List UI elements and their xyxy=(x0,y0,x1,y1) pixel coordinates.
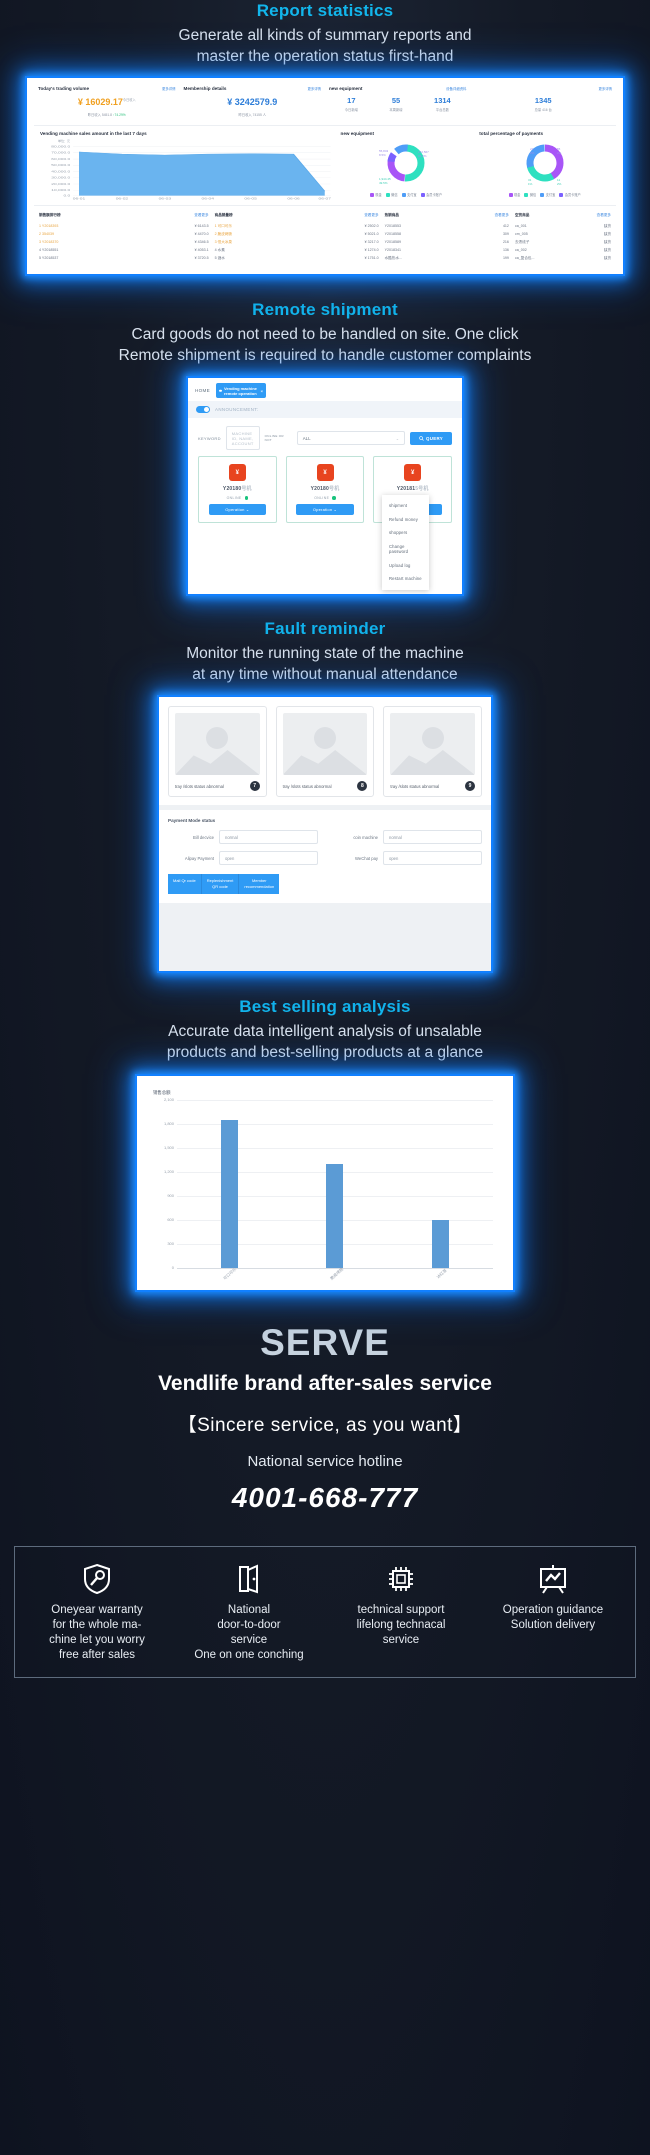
kpi-stat: 1345 总量 416 台 xyxy=(535,96,552,112)
operation-label: Operation xyxy=(225,507,244,512)
section-subtitle-remote: Card goods do not need to be handled on … xyxy=(0,324,650,366)
fault-card-list: tray /slots status abnormal 7 tray /slot… xyxy=(159,697,491,805)
fault-caption: tray /slots status abnormal xyxy=(175,784,224,789)
field-label: Bill decvice xyxy=(168,835,214,840)
fault-image-placeholder xyxy=(175,713,260,775)
column-more-link[interactable]: 查看更多 xyxy=(319,213,381,218)
svg-text:06-02: 06-02 xyxy=(116,198,128,200)
footer-item-text: National door-to-door service One on one… xyxy=(192,1603,305,1663)
kpi-stat-label: 总量 416 台 xyxy=(535,107,552,112)
image-placeholder-mountain-icon xyxy=(283,745,368,775)
legend-item: 会员卡账户 xyxy=(559,192,580,197)
svg-text:10,000.0: 10,000.0 xyxy=(51,189,70,191)
kpi-foot-value: 5451.8 xyxy=(102,113,112,117)
kpi-row: Today's trading volume 更多详情 ¥ 16029.17今日… xyxy=(34,84,616,126)
column-more-link[interactable]: 查看更多 xyxy=(580,213,614,218)
bar xyxy=(326,1164,343,1268)
kpi-stat-number: 55 xyxy=(389,96,402,105)
svg-text:60,000.0: 60,000.0 xyxy=(51,158,70,160)
section-subtitle-report: Generate all kinds of summary reports an… xyxy=(0,25,650,67)
svg-text:0.0: 0.0 xyxy=(63,195,70,197)
keyword-label: KEYWORD xyxy=(198,436,221,441)
image-placeholder-mountain-icon xyxy=(390,745,475,775)
table-row: 3 Y2018370 ¥ 4346.5 3 恒大冰泉 ¥ 3217.0 Y201… xyxy=(36,238,614,246)
footer-item-warranty: Oneyear warranty for the whole ma- chine… xyxy=(21,1561,173,1663)
x-tick-label: 冰红茶 xyxy=(435,1268,448,1280)
menu-item-change-password[interactable]: Change password xyxy=(382,540,429,559)
table-header-row: 销售额排行榜 查看更多 商品销量榜 查看更多 热销商品 查看更多 空货商品 查看… xyxy=(36,210,614,222)
sales-bar-chart: 销售总额 2,100 1,800 1,500 1,200 900 600 300… xyxy=(137,1076,513,1287)
menu-item-upload-log[interactable]: Upload log xyxy=(382,558,429,572)
kpi-card-membership: Membership details 更多详情 ¥ 3242579.9 昨日收入… xyxy=(180,84,326,119)
fault-image-placeholder xyxy=(390,713,475,775)
section-subtitle-best-selling: Accurate data intelligent analysis of un… xyxy=(0,1021,650,1063)
y-tick-label: 600 xyxy=(155,1217,174,1222)
legend-label: 现金 xyxy=(514,192,520,197)
column-header: 空货商品 xyxy=(512,213,580,218)
legend-label: 支付宝 xyxy=(546,192,556,197)
remote-operation-app: HOME Vending machine remote operation × … xyxy=(188,378,462,585)
donut-chart: 212% 552% 311% 112% 现金 微信 支付宝 xyxy=(479,139,610,197)
tab-dot-icon xyxy=(219,389,222,392)
door-icon xyxy=(234,1561,264,1595)
svg-text:33.2%: 33.2% xyxy=(418,154,427,158)
y-tick-label: 300 xyxy=(155,1241,174,1246)
operation-dropdown-menu: shipment Refund money shoppers Change pa… xyxy=(382,495,429,590)
fault-card[interactable]: tray /slots status abnormal 8 xyxy=(276,706,375,797)
fault-card[interactable]: tray /slots status abnormal 7 xyxy=(168,706,267,797)
image-placeholder-circle-icon xyxy=(206,727,228,749)
chip-icon xyxy=(386,1561,416,1595)
legend-label: 现金 xyxy=(375,192,381,197)
kpi-foot-delta: ↑74.29% xyxy=(113,113,126,117)
fault-image-placeholder xyxy=(283,713,368,775)
breadcrumb-home[interactable]: HOME xyxy=(195,388,210,393)
y-tick-label: 0 xyxy=(155,1265,174,1270)
payment-mode-status-panel: Payment Mode status Bill decvice normal … xyxy=(159,810,491,903)
payment-field: Bill decvice normal xyxy=(168,830,318,844)
kpi-stat-label: 今日新增 xyxy=(345,107,358,112)
machine-name: Y20180号机 xyxy=(311,485,340,492)
replenishment-qr-code-button[interactable]: Replenishment QR code xyxy=(202,874,240,894)
svg-text:2%: 2% xyxy=(557,151,562,155)
online-label: ONLINE OR NOT xyxy=(265,434,292,442)
machine-card[interactable]: ¥ Y20180号机 ONLINE Operation ⌄ xyxy=(286,456,365,523)
donut-legend: 现金 微信 支付宝 会员卡账户 xyxy=(370,192,442,197)
footer-item-text: Operation guidance Solution delivery xyxy=(501,1603,605,1633)
footer-item-operation-guidance: Operation guidance Solution delivery xyxy=(477,1561,629,1663)
kpi-multi-group: 1345 总量 416 台 xyxy=(475,96,613,112)
column-header: 销售额排行榜 xyxy=(36,213,144,218)
machine-status: ONLINE xyxy=(314,496,336,500)
fault-badge: 9 xyxy=(465,781,475,791)
kpi-more-link[interactable]: 设备详细资料 xyxy=(446,86,466,91)
fault-caption: tray /slots status abnormal xyxy=(390,784,439,789)
footer-section: Oneyear warranty for the whole ma- chine… xyxy=(0,1546,650,1678)
section-subtitle-fault: Monitor the running state of the machine… xyxy=(0,643,650,685)
table-row: 1 Y2018393 ¥ 6143.5 1 可口可乐 ¥ 2502.0 Y201… xyxy=(36,222,614,230)
section-title-remote: Remote shipment xyxy=(0,300,650,320)
svg-text:49.5%: 49.5% xyxy=(379,181,388,185)
legend-item: 现金 xyxy=(509,192,521,197)
online-select-value: ALL xyxy=(303,436,311,441)
menu-item-shoppers[interactable]: shoppers xyxy=(382,526,429,540)
legend-item: 微信 xyxy=(524,192,536,197)
chevron-down-icon: ⌄ xyxy=(396,436,399,441)
svg-text:1%: 1% xyxy=(528,182,533,186)
donut-chart-block-1: new equipment 55,8438.5% 272,56 xyxy=(337,131,476,201)
area-chart-block: Vending machine sales amount in the last… xyxy=(36,131,337,201)
kpi-more-link[interactable]: 更多详情 xyxy=(162,86,176,91)
kpi-label: new equipment xyxy=(329,86,362,91)
machine-name: Y201815号机 xyxy=(397,485,429,492)
footer-item-text: technical support lifelong technacal ser… xyxy=(355,1603,448,1648)
kpi-more-link[interactable]: 更多详情 xyxy=(598,86,612,91)
machine-status: ONLINE xyxy=(227,496,249,500)
kpi-foot-value: 74155 人 xyxy=(253,113,266,117)
machine-name: Y20180号机 xyxy=(223,485,252,492)
tab-bar: HOME Vending machine remote operation × xyxy=(188,378,462,401)
machine-status-text: ONLINE xyxy=(227,496,242,500)
payment-field: coin machine normal xyxy=(332,830,482,844)
bar-chart-plot: 2,100 1,800 1,500 1,200 900 600 300 0 xyxy=(153,1100,497,1268)
landing-page: Report statistics Generate all kinds of … xyxy=(0,0,650,2155)
area-chart: 80,000.070,000.0 60,000.050,000.0 40,000… xyxy=(40,143,333,201)
tab-vending-remote-operation[interactable]: Vending machine remote operation × xyxy=(216,383,266,398)
search-icon xyxy=(419,436,424,441)
kpi-stat-label: 平台总数 xyxy=(434,107,451,112)
shield-wrench-icon xyxy=(82,1561,112,1595)
field-value[interactable]: normal xyxy=(383,830,482,844)
field-value[interactable]: open xyxy=(383,851,482,865)
machine-card[interactable]: ¥ Y20180号机 ONLINE Operation ⌄ xyxy=(198,456,277,523)
donut-chart-block-2: total percentage of payments 212% 552% xyxy=(475,131,614,201)
menu-item-restart-machine[interactable]: Restart machine xyxy=(382,572,429,586)
svg-text:06-06: 06-06 xyxy=(287,198,299,200)
kpi-value-text: ¥ 16029.17 xyxy=(78,97,123,107)
close-icon[interactable]: × xyxy=(261,388,263,393)
payment-field: Alipay Payment open xyxy=(168,851,318,865)
svg-text:06-04: 06-04 xyxy=(202,198,214,200)
machine-operation-button[interactable]: Operation ⌄ xyxy=(209,504,267,515)
image-placeholder-mountain-icon xyxy=(175,745,260,775)
y-tick-label: 1,800 xyxy=(155,1121,174,1126)
image-placeholder-circle-icon xyxy=(314,727,336,749)
bar-series xyxy=(177,1100,493,1268)
serve-hotline-number: 4001-668-777 xyxy=(0,1482,650,1514)
kpi-multi-group: 17 今日新增 55 本周新增 1314 平台总数 xyxy=(329,96,467,112)
svg-text:2%: 2% xyxy=(557,182,562,186)
legend-label: 微信 xyxy=(530,192,536,197)
section-title-report: Report statistics xyxy=(0,1,650,21)
kpi-stat-number: 1314 xyxy=(434,96,451,105)
dashboard-screenshot: Today's trading volume 更多详情 ¥ 16029.17今日… xyxy=(25,76,625,276)
kpi-value: ¥ 3242579.9 xyxy=(184,97,322,107)
bar-chart-title: 销售总额 xyxy=(153,1090,497,1096)
legend-item: 支付宝 xyxy=(540,192,555,197)
serve-slogan: 【Sincere service, as you want】 xyxy=(0,1410,650,1437)
online-dot-icon xyxy=(245,496,249,500)
fault-caption: tray /slots status abnormal xyxy=(283,784,332,789)
dashboard: Today's trading volume 更多详情 ¥ 16029.17今日… xyxy=(27,78,623,270)
donut-chart-title: new equipment xyxy=(341,131,472,136)
bar-chart-screenshot: 销售总额 2,100 1,800 1,500 1,200 900 600 300… xyxy=(135,1074,515,1292)
fault-reminder-screenshot: tray /slots status abnormal 7 tray /slot… xyxy=(157,695,493,973)
footer-item-technical-support: technical support lifelong technacal ser… xyxy=(325,1561,477,1663)
bar xyxy=(432,1220,449,1268)
legend-item: 支付宝 xyxy=(402,192,417,197)
area-chart-title: Vending machine sales amount in the last… xyxy=(40,131,333,136)
tab-label: Vending machine remote operation xyxy=(224,386,257,396)
fault-card[interactable]: tray /slots status abnormal 9 xyxy=(383,706,482,797)
machine-operation-button[interactable]: Operation ⌄ xyxy=(296,504,354,515)
section-title-fault: Fault reminder xyxy=(0,619,650,639)
kpi-stat: 17 今日新增 xyxy=(345,96,358,112)
field-label: Alipay Payment xyxy=(168,856,214,861)
svg-text:50,000.0: 50,000.0 xyxy=(51,164,70,166)
keyword-input[interactable]: MACHINE ID, NAME, ACCOUNT xyxy=(226,426,260,450)
field-value[interactable]: open xyxy=(219,851,318,865)
donut-chart: 55,8438.5% 272,56733.2% 1,944.4549.5% 现金… xyxy=(341,139,472,197)
payment-action-buttons: Mall Qr code Replenishment QR code Membe… xyxy=(168,874,482,894)
legend-label: 会员卡账户 xyxy=(565,192,581,197)
svg-text:70,000.0: 70,000.0 xyxy=(51,152,70,154)
payment-field-row: Alipay Payment open WeChat pay open xyxy=(168,851,482,865)
legend-item: 现金 xyxy=(370,192,382,197)
svg-text:20,000.0: 20,000.0 xyxy=(51,183,70,185)
kpi-label: Today's trading volume xyxy=(38,86,89,91)
legend-label: 会员卡账户 xyxy=(426,192,442,197)
kpi-foot-prefix: 昨日收入 xyxy=(88,113,101,117)
filter-bar: KEYWORD MACHINE ID, NAME, ACCOUNT ONLINE… xyxy=(188,418,462,456)
announcement-label: ANNOUNCEMENT: xyxy=(215,407,259,412)
query-button[interactable]: QUERY xyxy=(410,432,452,445)
svg-text:06-05: 06-05 xyxy=(244,198,256,200)
column-more-link[interactable]: 查看更多 xyxy=(472,213,512,218)
y-tick-label: 2,100 xyxy=(155,1097,174,1102)
table-row: 4 Y2018551 ¥ 4053.1 4 水素 ¥ 1274.0 Y20183… xyxy=(36,247,614,255)
field-value[interactable]: normal xyxy=(219,830,318,844)
kpi-more-link[interactable]: 更多详情 xyxy=(307,86,321,91)
svg-text:80,000.0: 80,000.0 xyxy=(51,146,70,148)
kpi-stat: 1314 平台总数 xyxy=(434,96,451,112)
mall-qr-code-button[interactable]: Mall Qr code xyxy=(168,874,202,894)
serve-block: SERVE Vendlife brand after-sales service… xyxy=(0,1322,650,1514)
footer-box: Oneyear warranty for the whole ma- chine… xyxy=(14,1546,636,1678)
svg-text:06-07: 06-07 xyxy=(319,198,331,200)
table-row: 5 Y2018537 ¥ 3720.5 5 酒水 ¥ 1751.0 水酷热水..… xyxy=(36,255,614,263)
footer-item-national-service: National door-to-door service One on one… xyxy=(173,1561,325,1663)
online-dot-icon xyxy=(332,496,336,500)
x-axis-labels: 可口可乐 脆皮烤肠 冰红茶 xyxy=(177,1271,493,1277)
footer-item-text: Oneyear warranty for the whole ma- chine… xyxy=(47,1603,147,1663)
serve-hotline-label: National service hotline xyxy=(0,1453,650,1470)
donut-legend: 现金 微信 支付宝 会员卡账户 xyxy=(509,192,581,197)
kpi-value: ¥ 16029.17今日收入 xyxy=(38,97,176,107)
fault-badge: 8 xyxy=(357,781,367,791)
machine-thumbnail-icon: ¥ xyxy=(317,464,334,481)
bar xyxy=(221,1120,238,1268)
kpi-label: Membership details xyxy=(184,86,227,91)
kpi-stat-label: 本周新增 xyxy=(389,107,402,112)
menu-item-shipment[interactable]: shipment xyxy=(382,499,429,513)
svg-text:06-01: 06-01 xyxy=(73,198,85,200)
kpi-footnote: 昨日收入 5451.8 ↑74.29% xyxy=(38,112,176,117)
payment-field-row: Bill decvice normal coin machine normal xyxy=(168,830,482,844)
legend-item: 微信 xyxy=(386,192,398,197)
column-more-link[interactable]: 查看更多 xyxy=(144,213,212,218)
donut-chart-title: total percentage of payments xyxy=(479,131,610,136)
legend-label: 支付宝 xyxy=(407,192,417,197)
legend-item: 会员卡账户 xyxy=(421,192,442,197)
svg-text:2%: 2% xyxy=(530,151,535,155)
svg-text:40,000.0: 40,000.0 xyxy=(51,171,70,173)
kpi-value-sup: 今日收入 xyxy=(123,98,136,102)
machine-thumbnail-icon: ¥ xyxy=(229,464,246,481)
remote-operation-screenshot: HOME Vending machine remote operation × … xyxy=(186,376,464,596)
table-row: 2 354039 ¥ 4470.0 2 脆皮烤肠 ¥ 5021.0 Y20185… xyxy=(36,230,614,238)
column-header: 商品销量榜 xyxy=(212,213,320,218)
field-label: coin machine xyxy=(332,835,378,840)
online-select[interactable]: ALL ⌄ xyxy=(297,431,405,445)
svg-text:8.5%: 8.5% xyxy=(379,153,386,157)
machine-thumbnail-icon: ¥ xyxy=(404,464,421,481)
kpi-foot-prefix: 昨日收入 xyxy=(239,113,252,117)
serve-heading: SERVE xyxy=(0,1322,650,1364)
query-label: QUERY xyxy=(426,436,443,441)
column-header: 热销商品 xyxy=(382,213,473,218)
ranking-table: 销售额排行榜 查看更多 商品销量榜 查看更多 热销商品 查看更多 空货商品 查看… xyxy=(34,206,616,265)
operation-label: Operation xyxy=(313,507,332,512)
announcement-bar: ANNOUNCEMENT: xyxy=(188,401,462,418)
serve-brand-line: Vendlife brand after-sales service xyxy=(0,1372,650,1396)
svg-text:06-03: 06-03 xyxy=(159,198,171,200)
fault-badge: 7 xyxy=(250,781,260,791)
presentation-chart-icon xyxy=(537,1561,569,1595)
y-tick-label: 1,500 xyxy=(155,1145,174,1150)
kpi-card-total: 更多详情 1345 总量 416 台 xyxy=(471,84,617,119)
kpi-stat: 55 本周新增 xyxy=(389,96,402,112)
payment-panel-title: Payment Mode status xyxy=(168,818,482,823)
machine-status-text: ONLINE xyxy=(314,496,329,500)
field-label: WeChat pay xyxy=(332,856,378,861)
kpi-stat-number: 1345 xyxy=(535,96,552,105)
dashboard-charts: Vending machine sales amount in the last… xyxy=(34,126,616,206)
menu-item-refund-money[interactable]: Refund money xyxy=(382,513,429,527)
y-tick-label: 900 xyxy=(155,1193,174,1198)
kpi-card-trading-volume: Today's trading volume 更多详情 ¥ 16029.17今日… xyxy=(34,84,180,119)
svg-text:30,000.0: 30,000.0 xyxy=(51,177,70,179)
member-recommendation-button[interactable]: Member recommendation xyxy=(239,874,279,894)
kpi-stat-number: 17 xyxy=(345,96,358,105)
legend-label: 微信 xyxy=(391,192,397,197)
kpi-card-new-equipment: new equipment 设备详细资料 17 今日新增 55 本周新增 xyxy=(325,84,471,119)
payment-field: WeChat pay open xyxy=(332,851,482,865)
kpi-footnote: 昨日收入 74155 人 xyxy=(184,112,322,117)
section-title-best-selling: Best selling analysis xyxy=(0,997,650,1017)
announcement-toggle[interactable] xyxy=(196,406,210,413)
image-placeholder-circle-icon xyxy=(422,727,444,749)
y-tick-label: 1,200 xyxy=(155,1169,174,1174)
